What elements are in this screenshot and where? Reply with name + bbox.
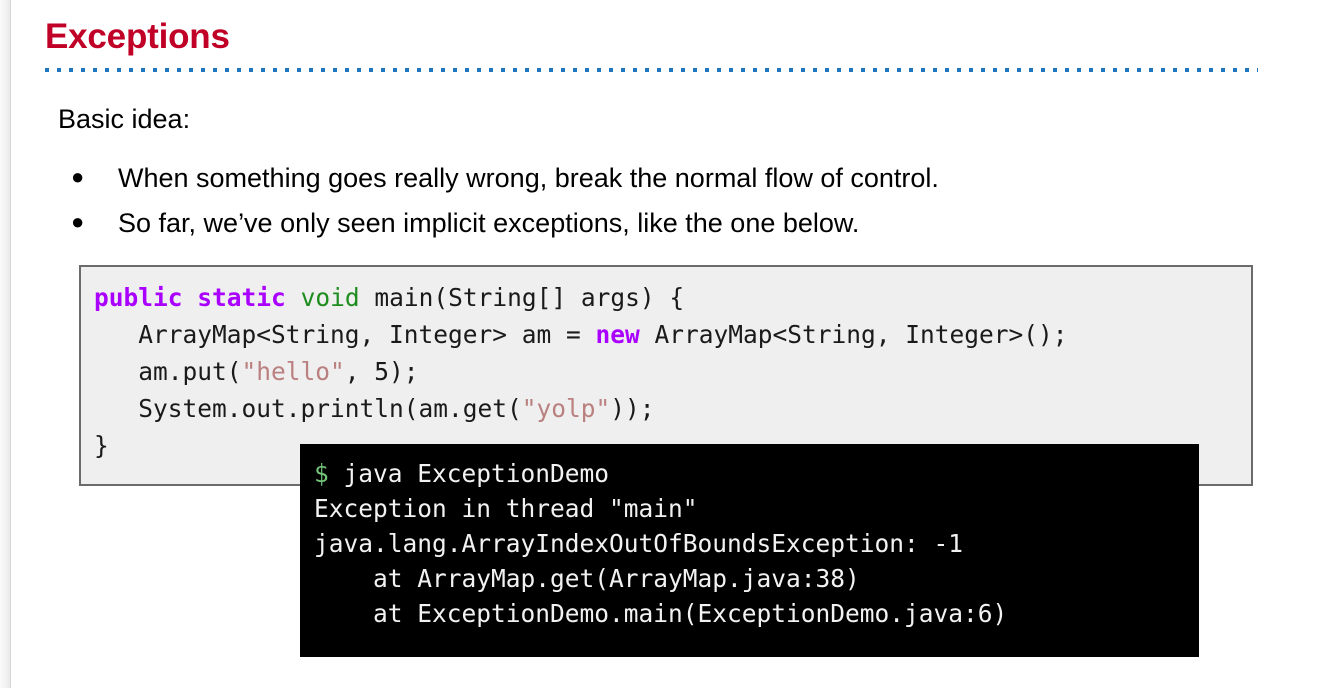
code-line-3-post: , 5); <box>345 357 419 386</box>
code-line-2-post: ArrayMap<String, Integer>(); <box>640 320 1068 349</box>
code-space <box>286 283 301 312</box>
page-title: Exceptions <box>45 18 230 57</box>
code-line-4-pre: System.out.println(am.get( <box>94 394 522 423</box>
bullet-list: ● When something goes really wrong, brea… <box>58 157 1258 247</box>
bullet-marker-icon: ● <box>71 157 91 197</box>
intro-text: Basic idea: <box>58 104 190 135</box>
bullet-marker-icon: ● <box>71 202 91 242</box>
terminal-output-line: at ArrayMap.get(ArrayMap.java:38) <box>314 564 860 593</box>
list-item: ● When something goes really wrong, brea… <box>58 157 1258 202</box>
code-line-4-post: )); <box>610 394 654 423</box>
terminal-output-line: Exception in thread "main" <box>314 494 698 523</box>
code-space <box>183 283 198 312</box>
list-item-label: So far, we’ve only seen implicit excepti… <box>118 202 859 244</box>
terminal-output-line: at ExceptionDemo.main(ExceptionDemo.java… <box>314 599 1007 628</box>
terminal-output-panel: $ java ExceptionDemo Exception in thread… <box>300 444 1199 657</box>
code-text: public static void main(String[] args) {… <box>81 267 1251 464</box>
terminal-output-line: java.lang.ArrayIndexOutOfBoundsException… <box>314 529 963 558</box>
code-keyword-new: new <box>596 320 640 349</box>
code-string-yolp: "yolp" <box>522 394 611 423</box>
code-keyword-public: public <box>94 283 183 312</box>
code-string-hello: "hello" <box>242 357 345 386</box>
list-item-label: When something goes really wrong, break … <box>118 157 939 199</box>
code-line-5: } <box>94 431 109 460</box>
code-line-1-rest: main(String[] args) { <box>360 283 685 312</box>
left-edge-divider <box>10 0 11 688</box>
terminal-prompt-icon: $ <box>314 459 329 488</box>
terminal-text: $ java ExceptionDemo Exception in thread… <box>300 444 1199 631</box>
left-gutter-strip <box>0 0 10 688</box>
code-keyword-void: void <box>301 283 360 312</box>
code-keyword-static: static <box>197 283 286 312</box>
list-item: ● So far, we’ve only seen implicit excep… <box>58 202 1258 247</box>
slide-canvas: Exceptions Basic idea: ● When something … <box>0 0 1322 688</box>
code-line-3-pre: am.put( <box>94 357 242 386</box>
terminal-command: java ExceptionDemo <box>329 459 609 488</box>
code-line-2-pre: ArrayMap<String, Integer> am = <box>94 320 596 349</box>
title-dotted-divider <box>45 68 1258 72</box>
